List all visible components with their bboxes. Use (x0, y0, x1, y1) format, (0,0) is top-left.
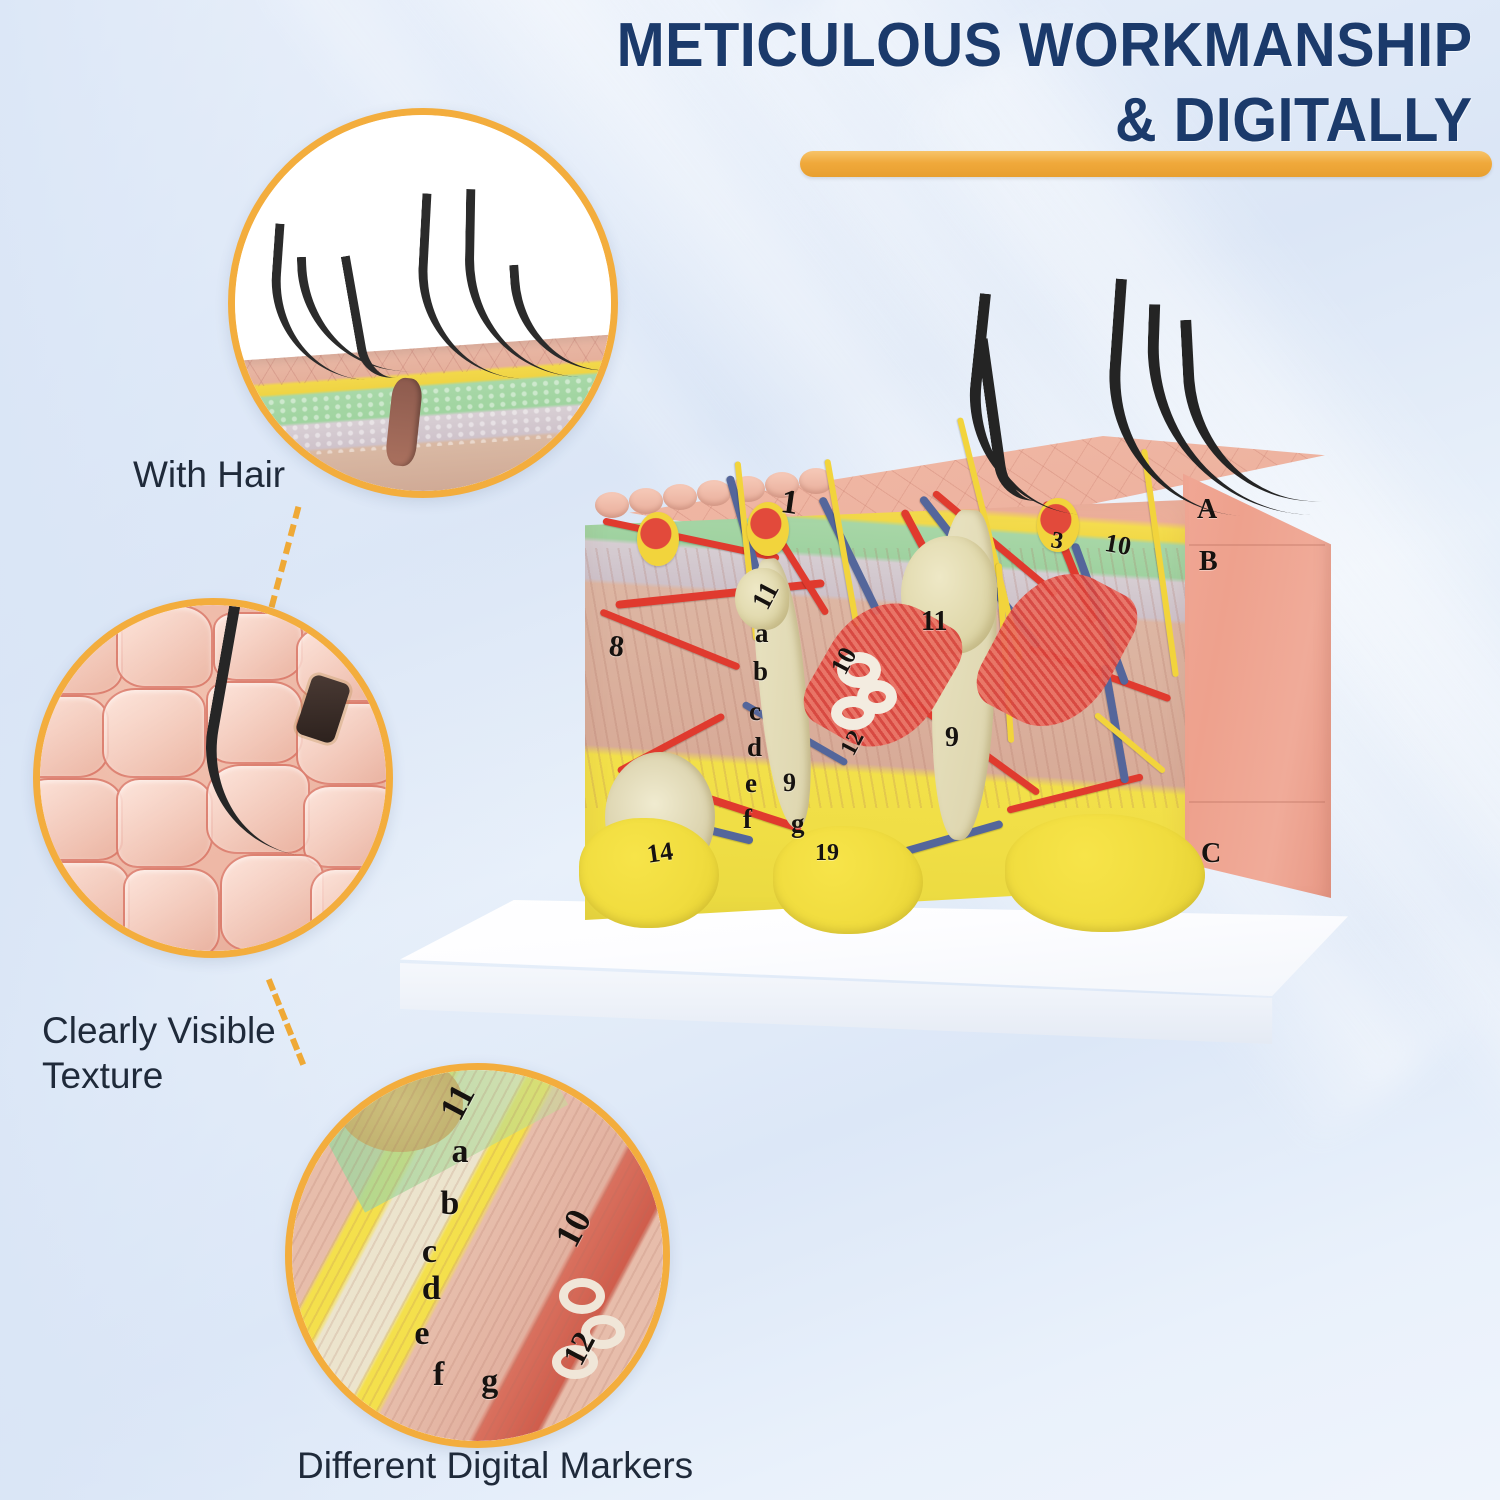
headline-line-2: & DIGITALLY (504, 89, 1481, 152)
sebaceous-gland-small (735, 568, 789, 630)
skin-block-side-face (1183, 456, 1331, 898)
product-image-canvas: METICULOUS WORKMANSHIP & DIGITALLY A B C (0, 0, 1500, 1500)
meissner-corpuscle (747, 502, 789, 556)
callout-texture (33, 598, 393, 958)
meissner-corpuscle (637, 512, 679, 566)
callout-digital-markers: 11 a b c d e f g 10 12 (285, 1063, 670, 1448)
callout-markers-fiber-texture (292, 1070, 663, 1441)
subcutaneous-fat-lobule (1005, 814, 1205, 932)
caption-texture: Clearly Visible Texture (42, 1008, 276, 1098)
subcutaneous-fat-lobule (773, 826, 923, 934)
caption-digital-markers: Different Digital Markers (297, 1443, 693, 1488)
callout-markers-sweat-gland (581, 1315, 625, 1349)
caption-with-hair: With Hair (133, 452, 285, 497)
callout-with-hair (228, 108, 618, 498)
connector-dashed-line-hair (269, 506, 302, 608)
subcutaneous-fat-lobule (579, 818, 719, 928)
caption-texture-line-1: Clearly Visible (42, 1008, 276, 1053)
skin-block: A B C (585, 440, 1325, 940)
headline: METICULOUS WORKMANSHIP & DIGITALLY (430, 14, 1480, 152)
caption-texture-line-2: Texture (42, 1053, 276, 1098)
callout-markers-sweat-gland (559, 1278, 605, 1314)
callout-markers-sweat-gland (552, 1345, 598, 1379)
headline-line-1: METICULOUS WORKMANSHIP (504, 14, 1481, 77)
sweat-gland-coil (831, 696, 875, 730)
